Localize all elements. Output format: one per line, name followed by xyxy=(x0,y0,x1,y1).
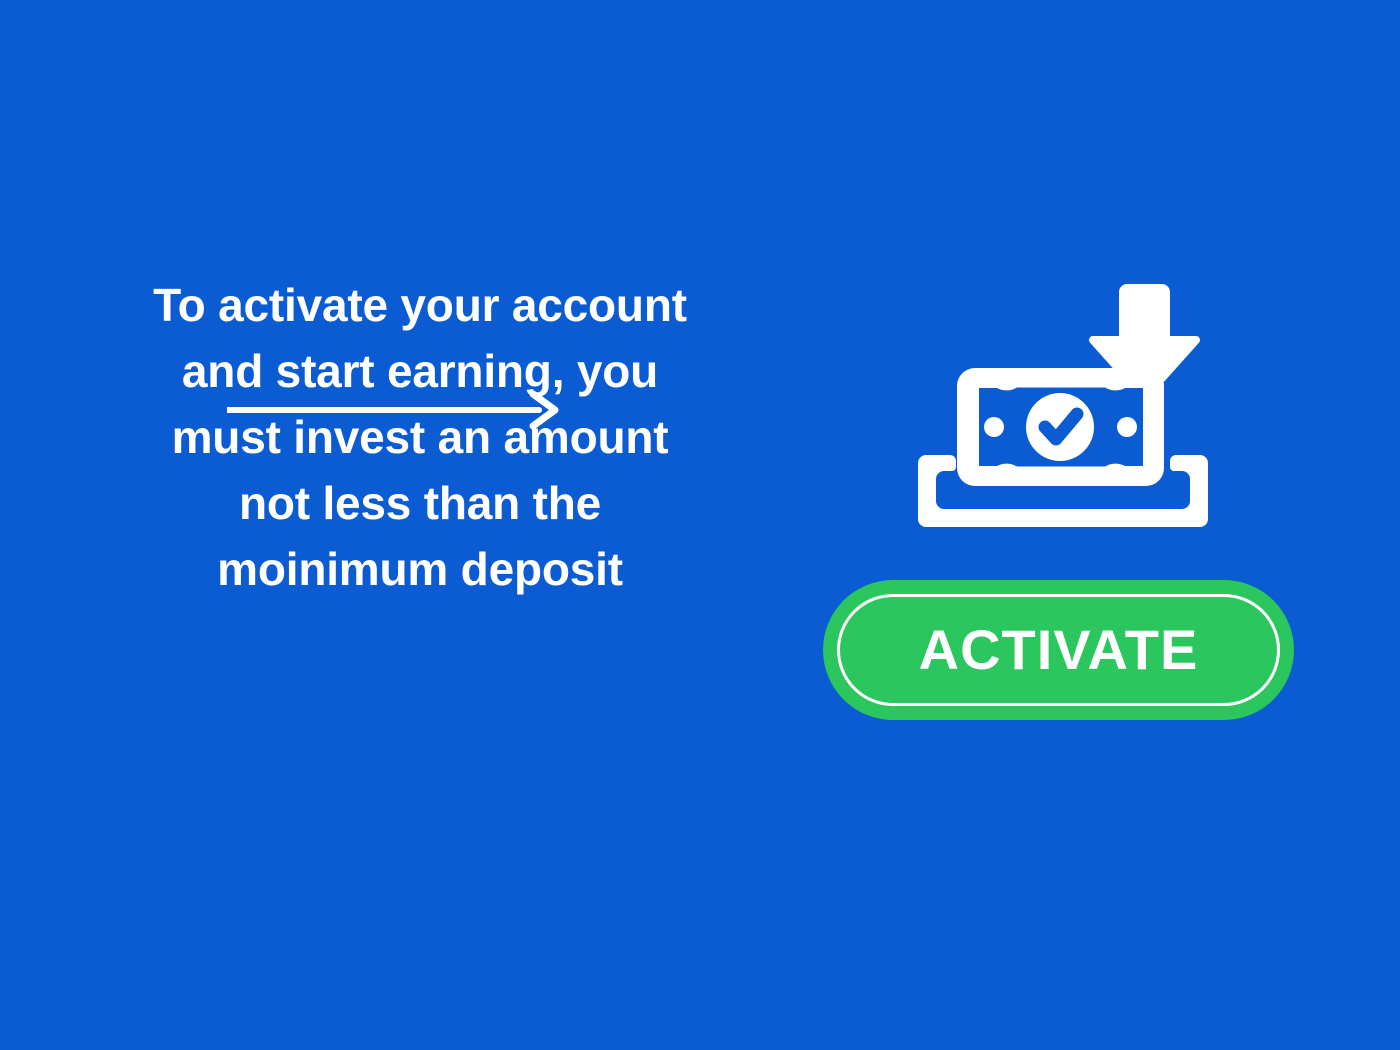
activate-button[interactable]: ACTIVATE xyxy=(823,580,1294,720)
banknote-dot-right xyxy=(1117,417,1137,437)
promo-canvas: To activate your account and start earni… xyxy=(0,0,1400,1050)
deposit-money-icon xyxy=(918,275,1208,537)
banknote-dot-left xyxy=(984,417,1004,437)
check-circle-icon xyxy=(1026,393,1094,461)
message-block: To activate your account and start earni… xyxy=(60,272,780,602)
activate-button-label: ACTIVATE xyxy=(919,622,1199,678)
arrow-right-icon xyxy=(227,390,559,430)
headline-text: To activate your account and start earni… xyxy=(60,272,780,602)
